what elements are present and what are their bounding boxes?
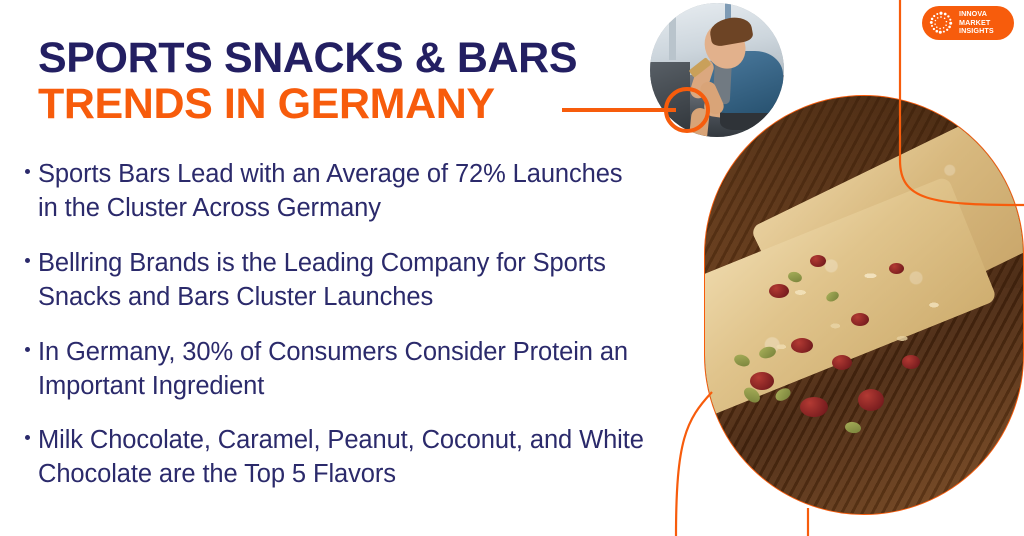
- list-item-label: In Germany, 30% of Consumers Consider Pr…: [38, 336, 646, 404]
- list-item: Sports Bars Lead with an Average of 72% …: [16, 158, 646, 226]
- list-item: Bellring Brands is the Leading Company f…: [16, 247, 646, 315]
- innova-dot-ring-icon: [928, 10, 954, 36]
- slide-canvas: SPORTS SNACKS & BARS TRENDS IN GERMANY S…: [0, 0, 1024, 536]
- bullet-dot-icon: [16, 158, 38, 174]
- title-line-2: TRENDS IN GERMANY: [38, 82, 638, 128]
- list-item-label: Bellring Brands is the Leading Company f…: [38, 247, 646, 315]
- logo-line-3: INSIGHTS: [959, 27, 994, 36]
- bullet-dot-icon: [16, 336, 38, 352]
- logo-wordmark: INNOVA MARKET INSIGHTS: [959, 10, 994, 36]
- bullet-dot-icon: [16, 247, 38, 263]
- list-item: In Germany, 30% of Consumers Consider Pr…: [16, 336, 646, 404]
- page-title: SPORTS SNACKS & BARS TRENDS IN GERMANY: [38, 36, 638, 127]
- granola-sports-bars-photo: [704, 95, 1024, 515]
- list-item-label: Sports Bars Lead with an Average of 72% …: [38, 158, 646, 226]
- list-item-label: Milk Chocolate, Caramel, Peanut, Coconut…: [38, 424, 646, 492]
- list-item: Milk Chocolate, Caramel, Peanut, Coconut…: [16, 424, 646, 492]
- innova-market-insights-logo[interactable]: INNOVA MARKET INSIGHTS: [922, 6, 1014, 40]
- bullet-dot-icon: [16, 424, 38, 440]
- key-findings-list: Sports Bars Lead with an Average of 72% …: [16, 158, 646, 492]
- title-line-1: SPORTS SNACKS & BARS: [38, 36, 638, 82]
